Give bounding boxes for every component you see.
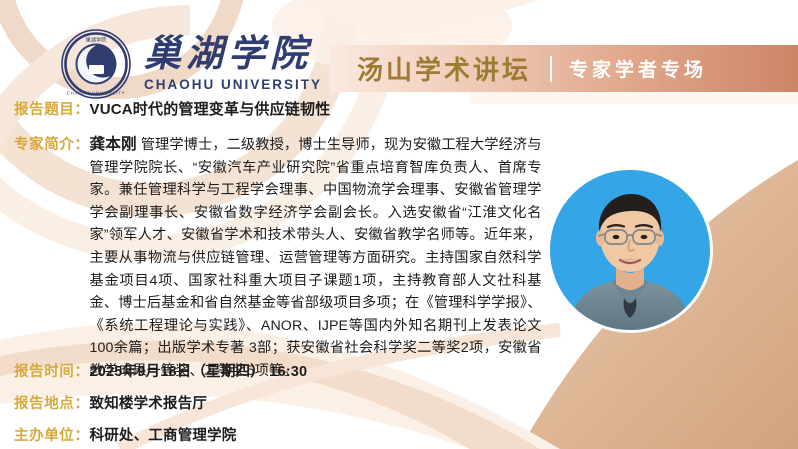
report-place-row: 报告地点： 致知楼学术报告厅	[14, 392, 207, 413]
report-time-value: 2025年9月18日（星期四） 16:30	[90, 360, 308, 381]
report-title-row: 报告题目： VUCA时代的管理变革与供应链韧性	[14, 98, 330, 119]
banner-subtitle: 专家学者专场	[569, 55, 707, 82]
university-names: 巢湖学院 CHAOHU UNIVERSITY	[144, 36, 322, 92]
banner-strip: 汤山学术讲坛 专家学者专场	[330, 45, 798, 92]
speaker-name: 龚本刚	[90, 136, 137, 153]
university-name-cn: 巢湖学院	[144, 36, 322, 74]
report-time-row: 报告时间： 2025年9月18日（星期四） 16:30	[14, 360, 307, 381]
svg-text:巢湖学院: 巢湖学院	[86, 35, 108, 43]
report-place-value: 致知楼学术报告厅	[90, 392, 208, 413]
speaker-bio-text: 龚本刚 管理学博士，二级教授，博士生导师，现为安徽工程大学经济与管理学院院长、“…	[90, 134, 542, 383]
speaker-bio-row: 专家简介： 龚本刚 管理学博士，二级教授，博士生导师，现为安徽工程大学经济与管理…	[14, 134, 574, 383]
report-host-row: 主办单位： 科研处、工商管理学院	[14, 424, 237, 445]
speaker-bio-label: 专家简介：	[14, 134, 90, 157]
report-host-label: 主办单位：	[14, 424, 90, 445]
poster-header: 巢湖学院 CHAOHU UNIVERSITY 巢湖学院 CHAOHU UNIVE…	[0, 0, 798, 100]
svg-text:CHAOHU UNIVERSITY: CHAOHU UNIVERSITY	[67, 91, 126, 96]
university-branding: 巢湖学院 CHAOHU UNIVERSITY 巢湖学院 CHAOHU UNIVE…	[60, 28, 322, 100]
banner-separator	[550, 56, 552, 82]
seminar-poster: 巢湖学院 CHAOHU UNIVERSITY 巢湖学院 CHAOHU UNIVE…	[0, 0, 798, 449]
speaker-portrait-photo	[550, 170, 710, 330]
report-title-value: VUCA时代的管理变革与供应链韧性	[90, 98, 331, 119]
speaker-bio-body: 管理学博士，二级教授，博士生导师，现为安徽工程大学经济与管理学院院长、“安徽汽车…	[90, 137, 542, 379]
university-name-en: CHAOHU UNIVERSITY	[144, 77, 322, 92]
portrait-svg	[550, 170, 710, 330]
report-title-label: 报告题目：	[14, 98, 90, 119]
seal-svg: 巢湖学院 CHAOHU UNIVERSITY	[60, 28, 132, 100]
report-time-label: 报告时间：	[14, 360, 90, 381]
banner-title: 汤山学术讲坛	[357, 50, 531, 87]
report-place-label: 报告地点：	[14, 392, 90, 413]
report-host-value: 科研处、工商管理学院	[90, 424, 237, 445]
university-seal-icon: 巢湖学院 CHAOHU UNIVERSITY	[60, 28, 132, 100]
